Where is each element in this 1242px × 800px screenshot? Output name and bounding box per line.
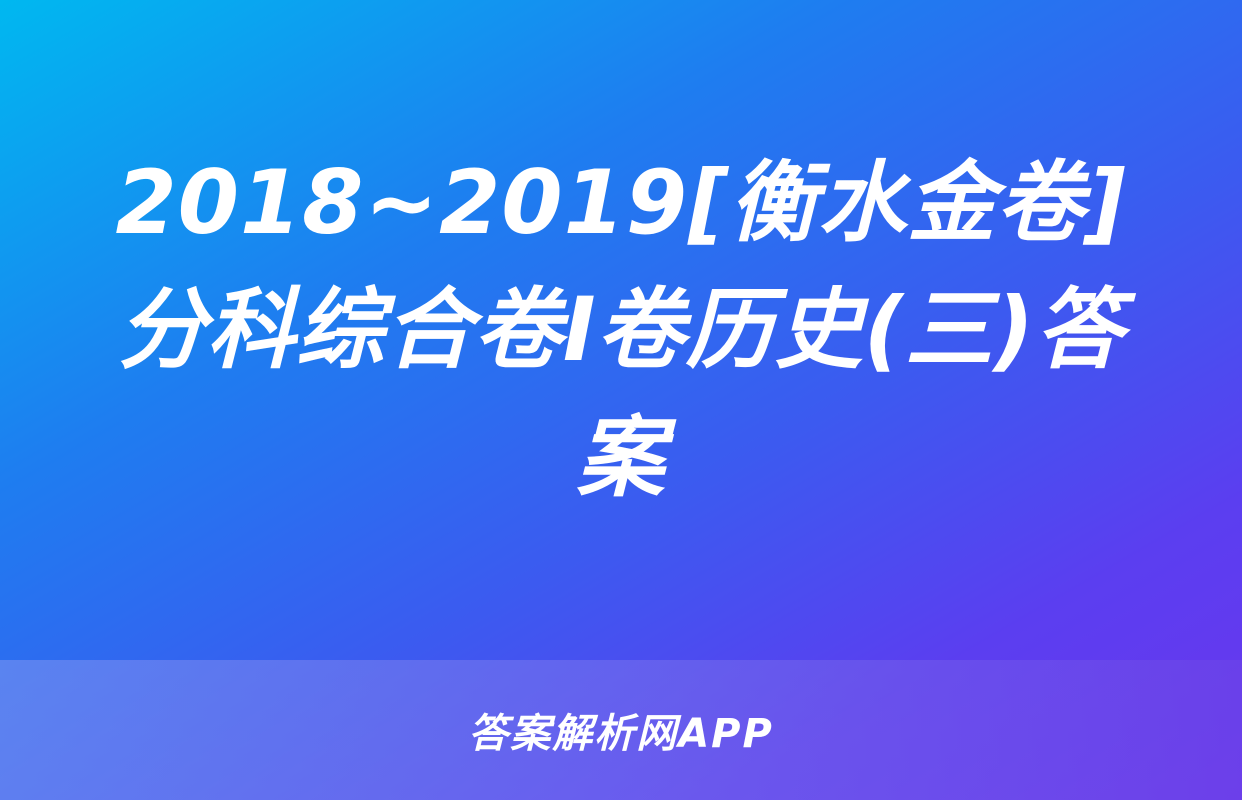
poster-canvas: 2018~2019[衡水金卷]分科综合卷I卷历史(三)答案 答案解析网APP [0, 0, 1242, 800]
page-title: 2018~2019[衡水金卷]分科综合卷I卷历史(三)答案 [91, 139, 1151, 522]
watermark-label: 答案解析网APP [468, 701, 774, 759]
footer-band: 答案解析网APP [0, 660, 1242, 800]
title-area: 2018~2019[衡水金卷]分科综合卷I卷历史(三)答案 [0, 0, 1242, 660]
